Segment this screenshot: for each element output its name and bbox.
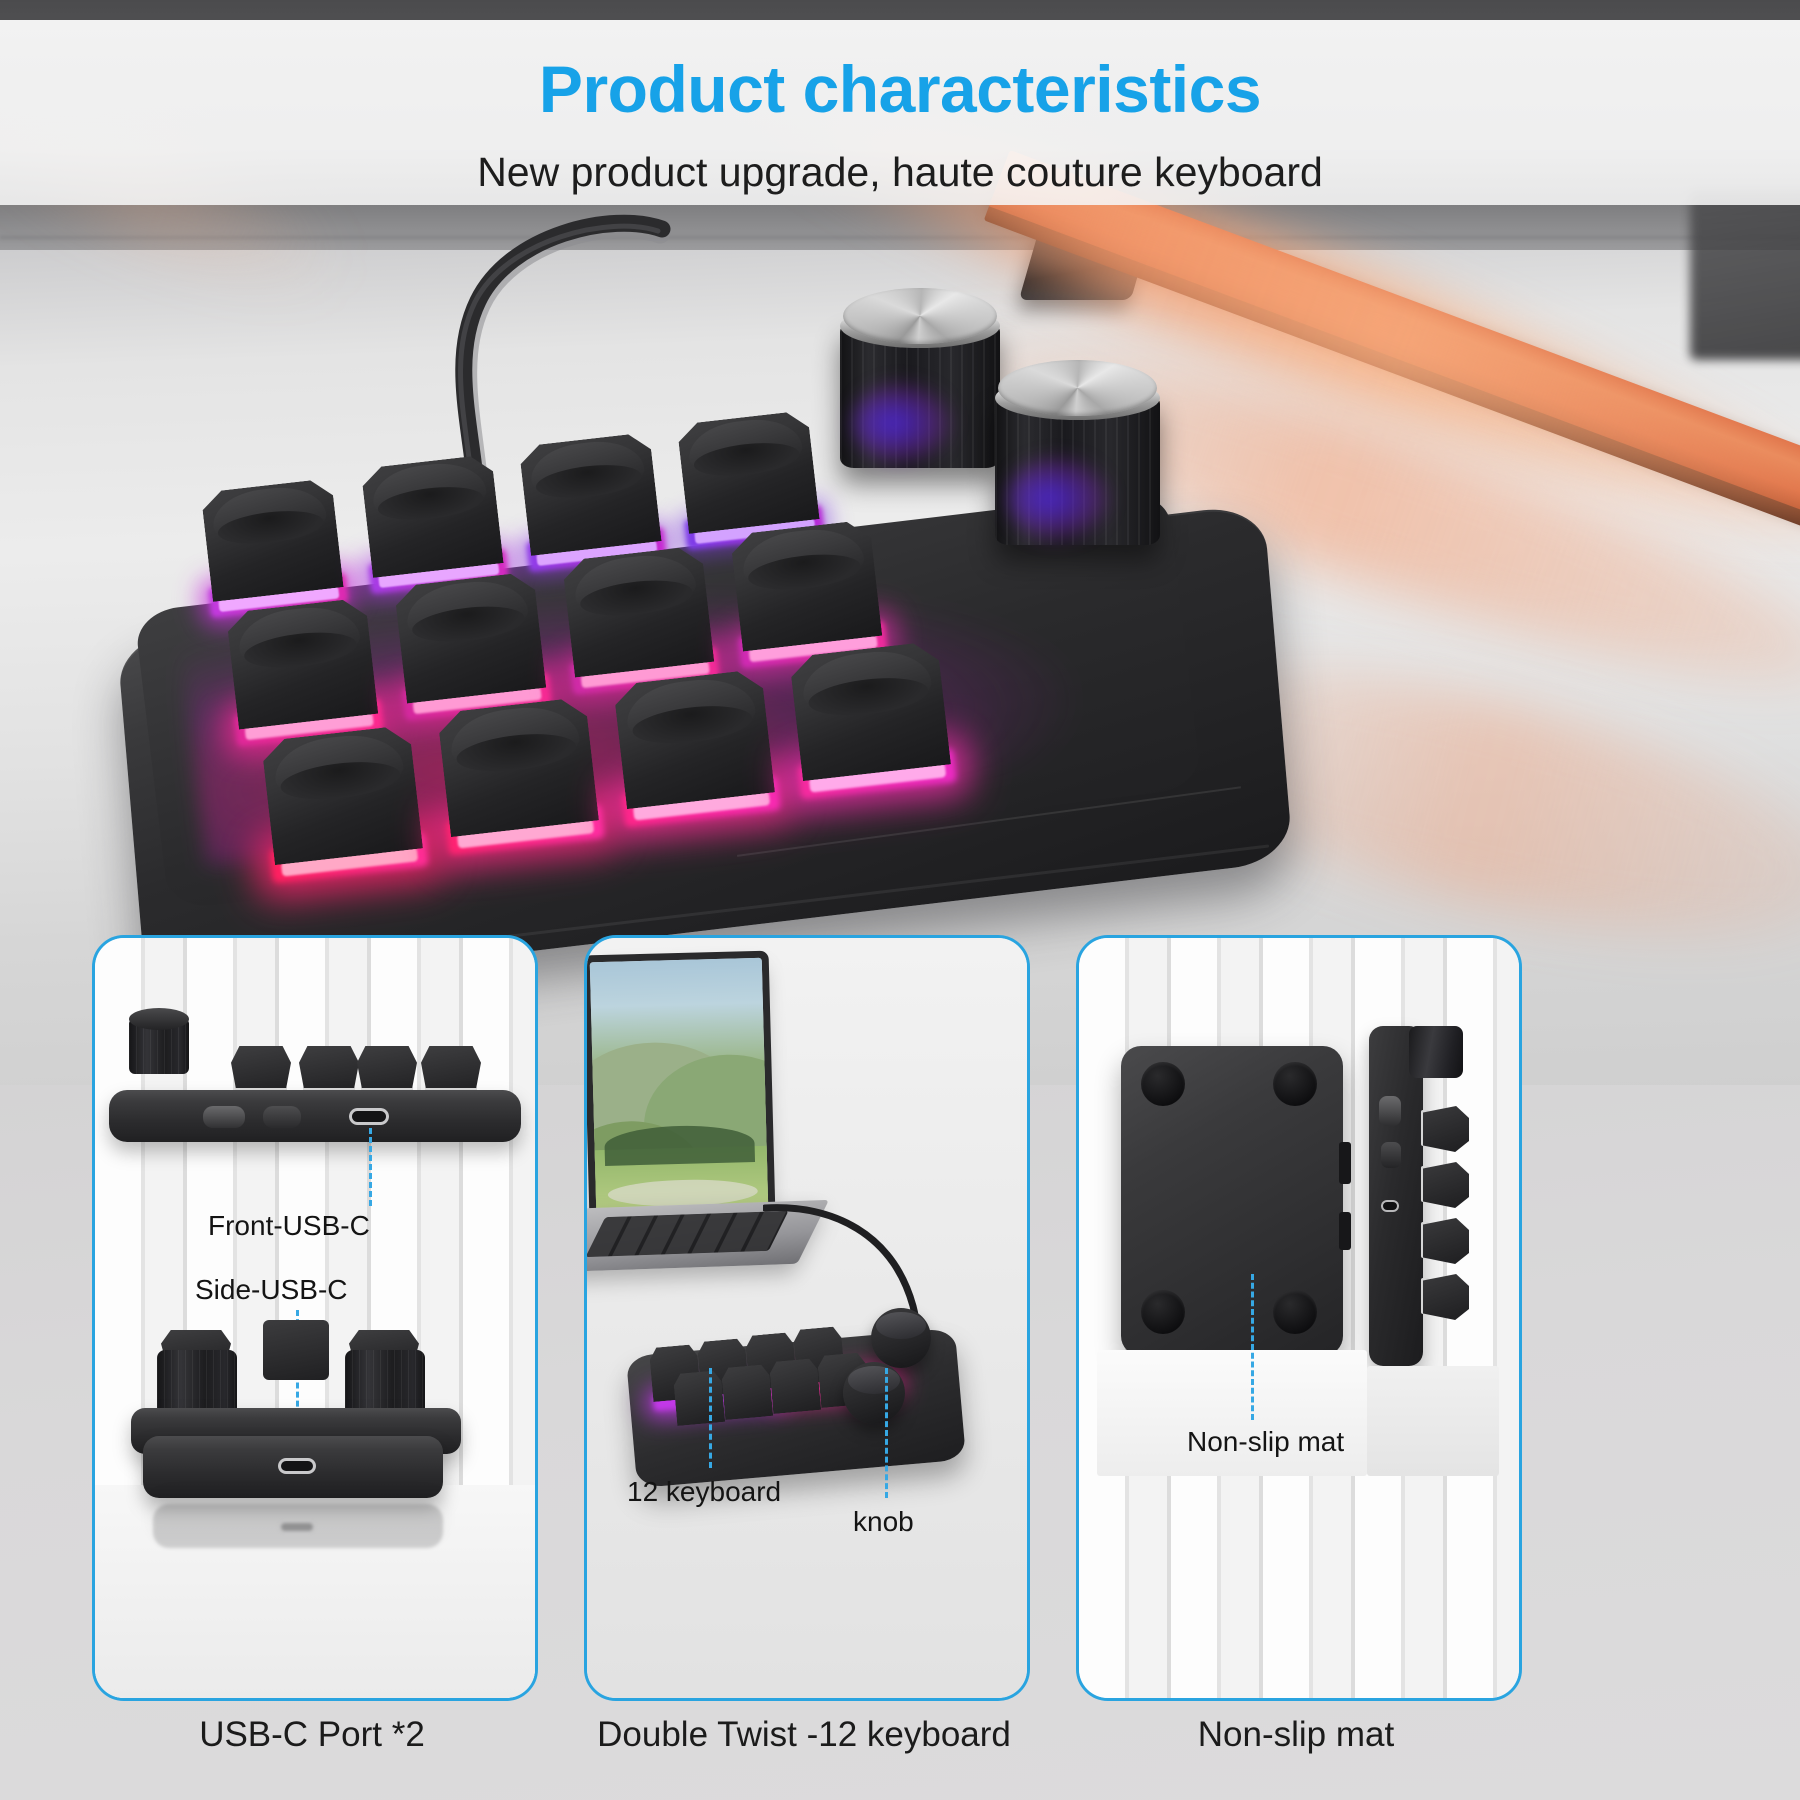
keycap[interactable] bbox=[201, 482, 345, 615]
laptop-keyboard bbox=[585, 1211, 788, 1257]
callout-label-12-keyboard: 12 keyboard bbox=[627, 1476, 781, 1508]
non-slip-foot bbox=[1273, 1290, 1317, 1334]
keycap-profile bbox=[1423, 1274, 1469, 1320]
non-slip-foot bbox=[1141, 1062, 1185, 1106]
side-profile-knob[interactable] bbox=[1409, 1026, 1463, 1078]
keycap[interactable] bbox=[361, 458, 505, 591]
keyboard-underside bbox=[1121, 1046, 1343, 1356]
keycap-profile bbox=[1423, 1106, 1469, 1152]
non-slip-foot bbox=[1273, 1062, 1317, 1106]
callout-label-knob: knob bbox=[853, 1506, 914, 1538]
keycap-profile bbox=[421, 1046, 481, 1088]
monitor-silhouette bbox=[1690, 190, 1800, 360]
rotary-knob-left[interactable] bbox=[840, 288, 1000, 468]
rotary-knob-right[interactable] bbox=[995, 360, 1160, 545]
keycap[interactable] bbox=[677, 414, 821, 547]
side-switch[interactable] bbox=[203, 1106, 245, 1128]
page-title: Product characteristics bbox=[0, 56, 1800, 122]
knob-top-cap bbox=[129, 1008, 189, 1030]
non-slip-foot bbox=[1141, 1290, 1185, 1334]
laptop-screen bbox=[590, 958, 768, 1212]
panel-caption-usb-c-ports: USB-C Port *2 bbox=[92, 1715, 532, 1755]
keycap-profile bbox=[1423, 1218, 1469, 1264]
side-usb-c-port bbox=[278, 1458, 316, 1474]
panel-usb-c-ports[interactable]: Front-USB-C Side-USB-C bbox=[92, 935, 538, 1701]
panel-double-twist[interactable]: 12 keyboard knob bbox=[584, 935, 1030, 1701]
usb-reflection bbox=[278, 1520, 316, 1534]
keycap[interactable] bbox=[789, 645, 952, 796]
keycap-profile-center bbox=[263, 1320, 329, 1380]
keyboard-front-edge bbox=[109, 1090, 521, 1142]
panel-caption-non-slip-mat: Non-slip mat bbox=[1076, 1715, 1516, 1755]
keycap[interactable] bbox=[437, 701, 600, 852]
keycap[interactable] bbox=[394, 575, 548, 717]
callout-line-front-usb-c bbox=[369, 1128, 372, 1206]
panel-caption-double-twist: Double Twist -12 keyboard bbox=[584, 1715, 1024, 1755]
macropad-knob-lower[interactable] bbox=[843, 1362, 905, 1424]
keycap-profile bbox=[1423, 1162, 1469, 1208]
callout-label-non-slip-mat: Non-slip mat bbox=[1187, 1426, 1344, 1458]
callout-line-non-slip-mat bbox=[1251, 1274, 1254, 1420]
side-profile-switch[interactable] bbox=[1379, 1096, 1401, 1126]
macropad-key[interactable] bbox=[769, 1358, 821, 1414]
front-usb-c-port bbox=[349, 1108, 389, 1125]
keycap-profile bbox=[299, 1046, 359, 1088]
callout-label-side-usb-c: Side-USB-C bbox=[195, 1274, 347, 1306]
keycap-profile bbox=[231, 1046, 291, 1088]
keycap[interactable] bbox=[226, 601, 380, 743]
keycap[interactable] bbox=[613, 673, 776, 824]
desk-edge-line bbox=[0, 236, 1800, 239]
keycap[interactable] bbox=[261, 729, 424, 880]
display-pedestal-right bbox=[1367, 1366, 1499, 1476]
product-feature-image: Product characteristics New product upgr… bbox=[0, 0, 1800, 1800]
edge-switch bbox=[1339, 1142, 1351, 1184]
keycap-profile bbox=[357, 1046, 417, 1088]
callout-label-front-usb-c: Front-USB-C bbox=[208, 1210, 370, 1242]
page-subtitle: New product upgrade, haute couture keybo… bbox=[0, 152, 1800, 193]
macropad-knob-upper[interactable] bbox=[871, 1308, 931, 1368]
reset-button[interactable] bbox=[263, 1106, 301, 1128]
feature-panel-row: Front-USB-C Side-USB-C USB-C Port *2 bbox=[0, 1085, 1800, 1800]
keycap[interactable] bbox=[519, 436, 663, 569]
edge-button bbox=[1339, 1212, 1351, 1250]
keycap[interactable] bbox=[730, 523, 884, 665]
side-profile-button[interactable] bbox=[1381, 1142, 1401, 1168]
panel-non-slip-mat[interactable]: Non-slip mat bbox=[1076, 935, 1522, 1701]
side-profile-usb-c-port bbox=[1381, 1200, 1399, 1212]
macropad-key[interactable] bbox=[721, 1364, 773, 1420]
header-banner: Product characteristics New product upgr… bbox=[0, 20, 1800, 205]
callout-line-knob bbox=[885, 1368, 888, 1498]
callout-line-12-keyboard bbox=[709, 1368, 712, 1468]
macropad-key[interactable] bbox=[673, 1370, 725, 1426]
keycap[interactable] bbox=[562, 549, 716, 691]
